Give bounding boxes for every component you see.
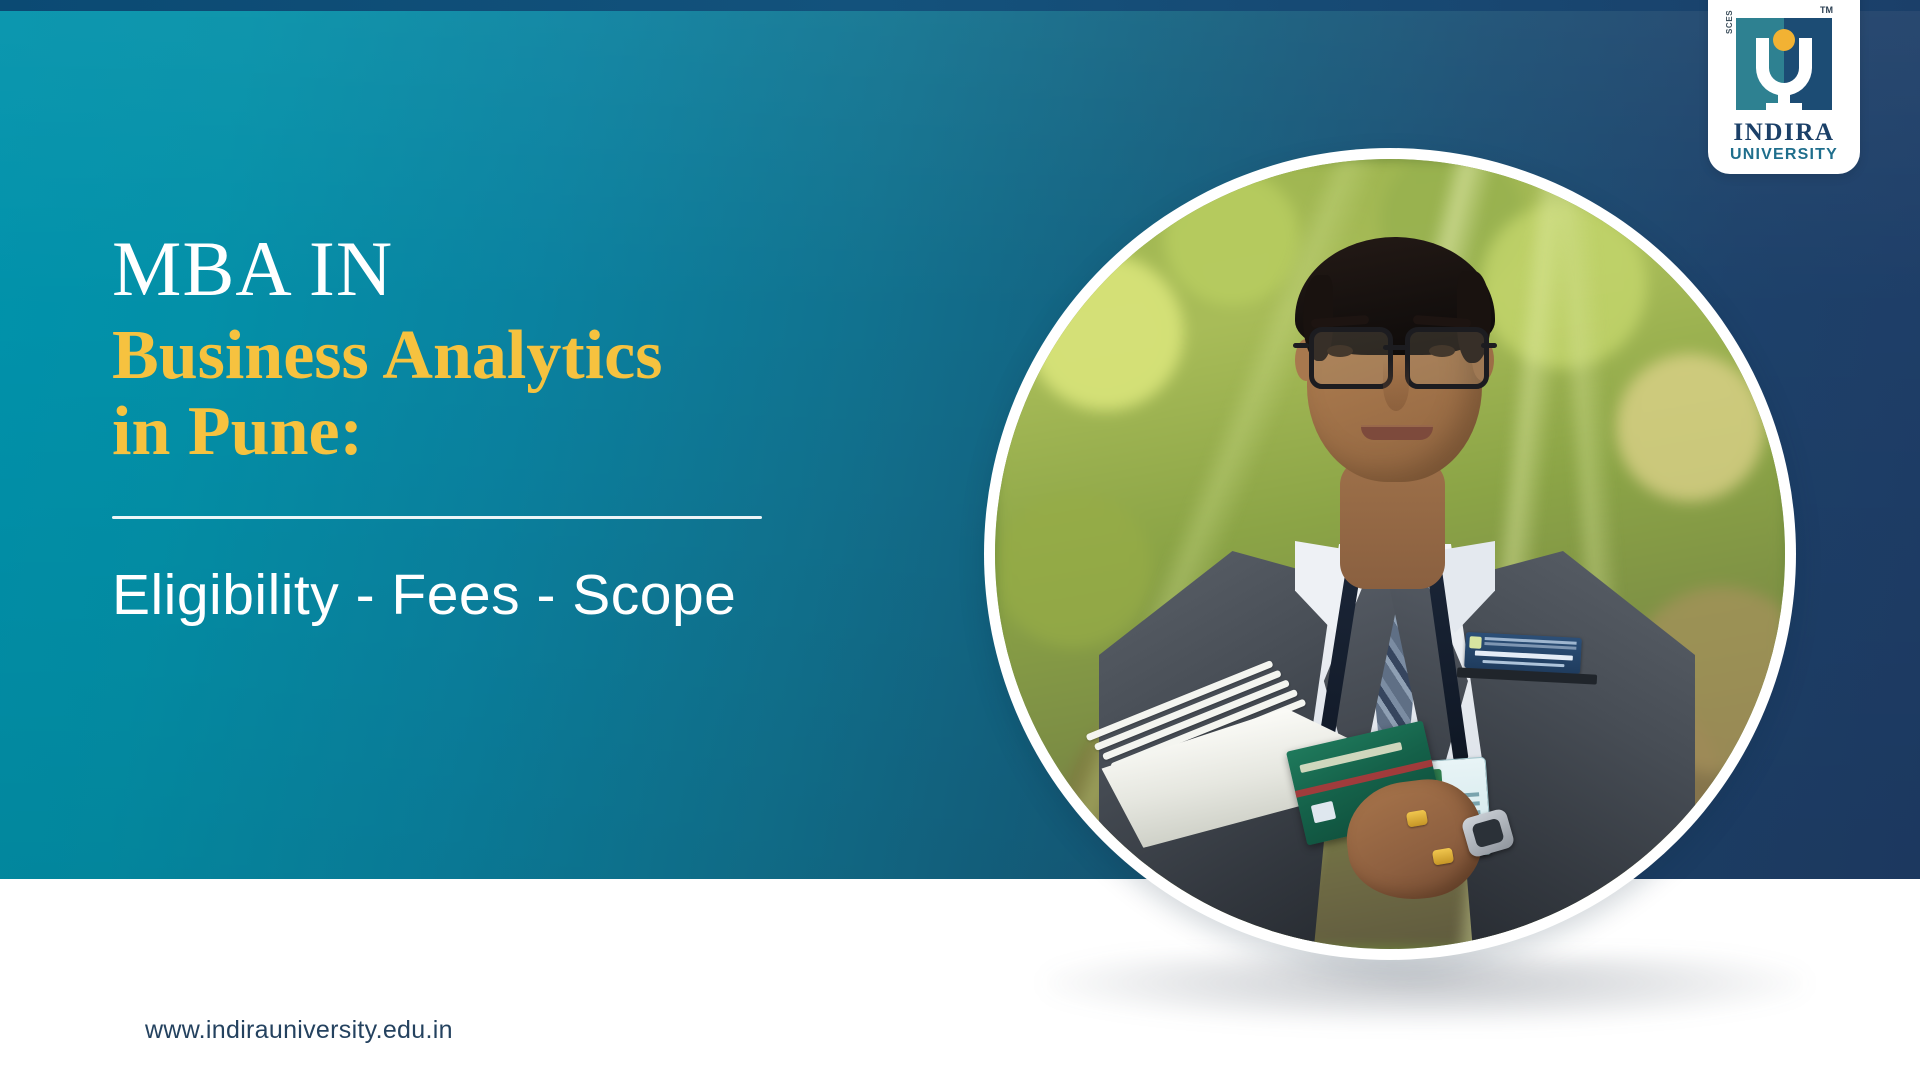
badge-name-line: [1475, 650, 1573, 660]
headline-top: MBA IN: [112, 228, 902, 310]
glasses-temple-right: [1481, 343, 1497, 348]
top-accent-strip: [0, 0, 1920, 11]
student-figure: INDIRA SCHOOL: [995, 159, 1785, 949]
book-title-bar: [1299, 742, 1402, 773]
headline-highlight-1: Business Analytics: [112, 316, 902, 396]
promotional-banner: MBA IN Business Analytics in Pune: Eligi…: [0, 0, 1920, 1080]
mouth: [1361, 427, 1433, 440]
headline-divider: [112, 516, 762, 519]
badge-emblem: [1469, 636, 1482, 649]
glasses-bridge: [1383, 345, 1407, 350]
sces-mark: SCES: [1725, 10, 1734, 34]
logo-qualifier: UNIVERSITY: [1730, 146, 1838, 164]
lens-left: [1309, 327, 1393, 389]
university-logo-card[interactable]: SCES TM INDIRA UNIVERSITY: [1708, 0, 1860, 174]
trident-icon: [1736, 18, 1832, 110]
lens-right: [1405, 327, 1489, 389]
subheadline: Eligibility - Fees - Scope: [112, 563, 902, 627]
student-photo-circle: INDIRA SCHOOL: [984, 148, 1796, 960]
headline-block: MBA IN Business Analytics in Pune: Eligi…: [112, 228, 902, 627]
badge-title-line: [1482, 660, 1564, 667]
trademark-symbol: TM: [1820, 5, 1833, 15]
logo-emblem: SCES TM: [1736, 18, 1832, 110]
website-url[interactable]: www.indirauniversity.edu.in: [145, 1016, 453, 1045]
book-publisher-logo: [1311, 801, 1336, 823]
photo-drop-shadow: [1045, 955, 1805, 1025]
headline-highlight-2: in Pune:: [112, 392, 902, 472]
student-photo: INDIRA SCHOOL: [995, 159, 1785, 949]
badge-org-lines: [1485, 637, 1577, 645]
nose: [1383, 359, 1409, 411]
logo-name: INDIRA: [1733, 120, 1834, 146]
glasses-temple-left: [1293, 343, 1309, 348]
